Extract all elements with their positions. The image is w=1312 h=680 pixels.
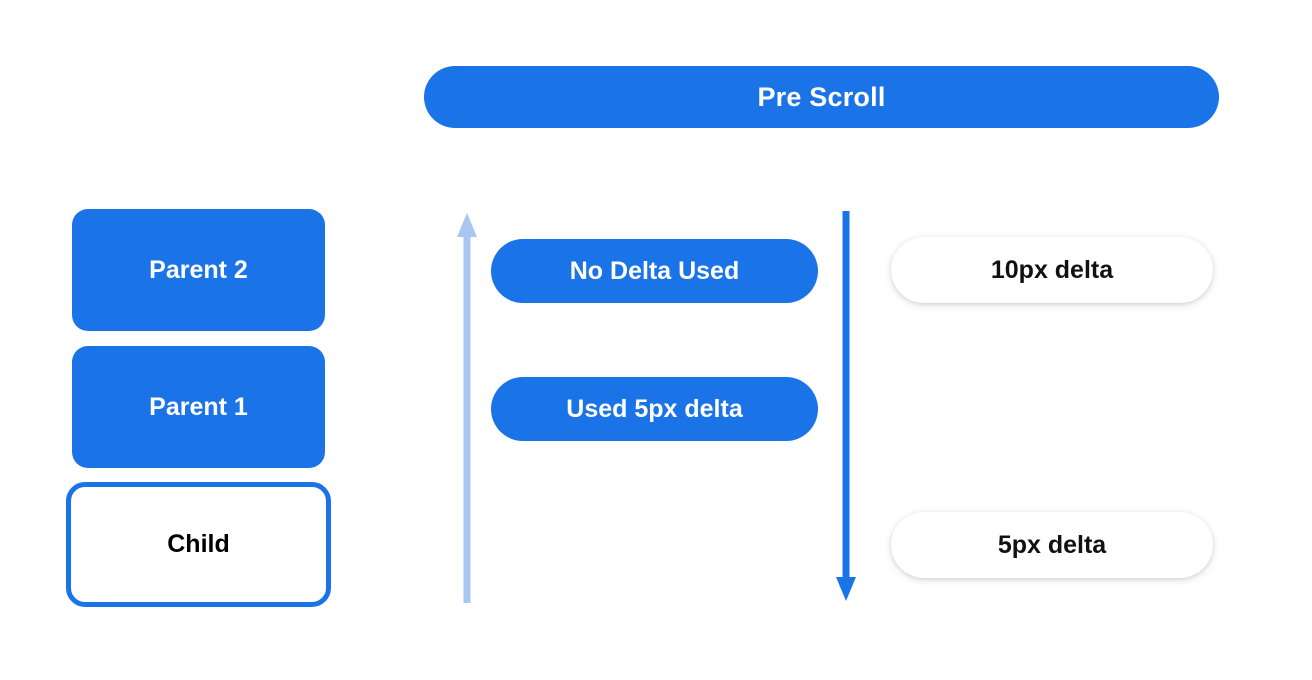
down-arrow-icon bbox=[834, 211, 858, 603]
node-box-parent-2: Parent 2 bbox=[72, 209, 325, 331]
value-pill-5px-delta: 5px delta bbox=[891, 512, 1213, 578]
up-arrow-icon bbox=[455, 211, 479, 603]
value-pill-10px-delta: 10px delta bbox=[891, 237, 1213, 303]
pre-scroll-header-label: Pre Scroll bbox=[757, 82, 885, 113]
value-pill-label-10px-delta: 10px delta bbox=[991, 256, 1113, 285]
pre-scroll-header-pill: Pre Scroll bbox=[424, 66, 1219, 128]
value-pill-label-5px-delta: 5px delta bbox=[998, 531, 1106, 560]
node-box-child: Child bbox=[66, 482, 331, 607]
delta-pill-label-no-delta-used: No Delta Used bbox=[570, 257, 739, 286]
delta-pill-no-delta-used: No Delta Used bbox=[491, 239, 818, 303]
node-label-parent-2: Parent 2 bbox=[149, 256, 248, 285]
delta-pill-used-5px-delta: Used 5px delta bbox=[491, 377, 818, 441]
node-label-child: Child bbox=[167, 530, 230, 559]
delta-pill-label-used-5px-delta: Used 5px delta bbox=[566, 395, 742, 424]
node-label-parent-1: Parent 1 bbox=[149, 393, 248, 422]
diagram-canvas: Pre Scroll Parent 2 Parent 1 Child No De… bbox=[0, 0, 1312, 680]
node-box-parent-1: Parent 1 bbox=[72, 346, 325, 468]
